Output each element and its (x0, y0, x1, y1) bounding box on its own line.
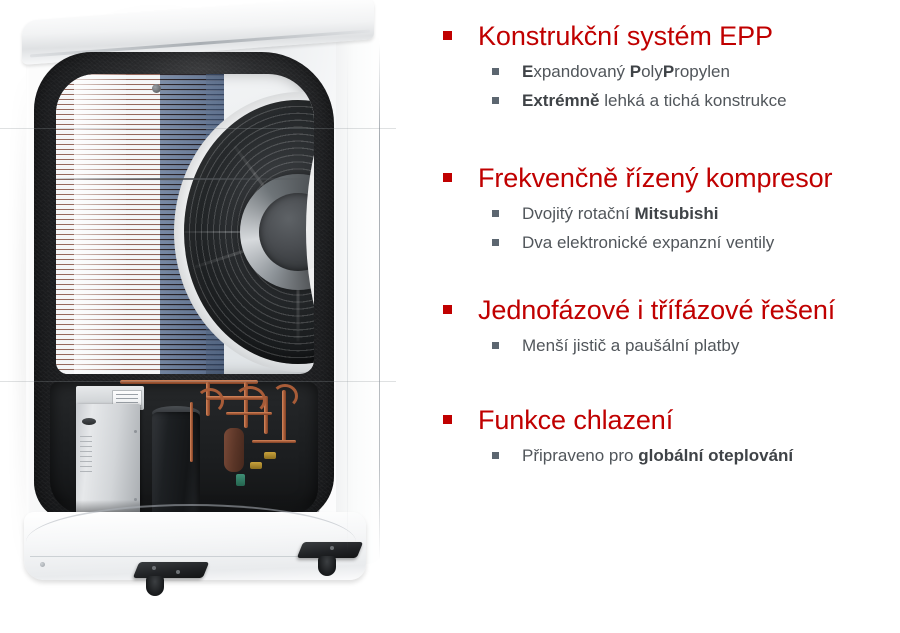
copper-pipe (252, 440, 296, 443)
bullet-group-2: Frekvenčně řízený kompresor Dvojitý rota… (430, 160, 900, 256)
small-square-bullet-icon (492, 452, 499, 459)
brass-fitting (250, 462, 262, 469)
brass-fitting (264, 452, 276, 459)
sub-bullet-3-1: Menší jistič a paušální platby (430, 332, 900, 359)
cabinet-inner-edge-line (347, 52, 348, 552)
small-square-bullet-icon (492, 68, 499, 75)
slide-guide-line (0, 381, 396, 382)
sub-bullet-text: Dvojitý rotační Mitsubishi (522, 204, 719, 223)
heat-pump-cutaway-illustration (0, 0, 420, 633)
small-square-bullet-icon (492, 239, 499, 246)
sub-bullet-text: Dva elektronické expanzní ventily (522, 233, 774, 252)
sub-bullet-1-2: Extrémně lehká a tichá konstrukce (430, 87, 900, 114)
square-bullet-icon (443, 305, 452, 314)
sub-bullet-2-2: Dva elektronické expanzní ventily (430, 229, 900, 256)
mounting-foot-bolt (152, 566, 156, 570)
slide-root: Konstrukční systém EPP Expandovaný PolyP… (0, 0, 900, 633)
small-square-bullet-icon (492, 342, 499, 349)
square-bullet-icon (443, 31, 452, 40)
small-square-bullet-icon (492, 210, 499, 217)
bullet-heading-2: Frekvenčně řízený kompresor (430, 160, 900, 198)
control-box-vents (80, 436, 92, 476)
fan-guard-knob (152, 84, 161, 93)
fan-and-coil-bay (56, 74, 314, 374)
mounting-foot (133, 562, 209, 578)
copper-pipe-bend (234, 386, 266, 414)
cabinet-right-panel (336, 36, 382, 564)
mounting-foot-pad (146, 576, 164, 596)
control-box-knob (82, 418, 96, 425)
bullet-group-4: Funkce chlazení Připraveno pro globální … (430, 402, 900, 469)
control-box-screw (134, 430, 137, 433)
heading-text: Konstrukční systém EPP (478, 21, 773, 51)
mounting-foot-pad (318, 556, 336, 576)
expansion-valve (236, 474, 245, 486)
cabinet-base-screw (40, 562, 45, 567)
square-bullet-icon (443, 415, 452, 424)
small-square-bullet-icon (492, 97, 499, 104)
square-bullet-icon (443, 173, 452, 182)
cabinet-right-edge-line (379, 44, 380, 560)
bullet-heading-3: Jednofázové i třífázové řešení (430, 292, 900, 330)
bullet-content: Konstrukční systém EPP Expandovaný PolyP… (430, 0, 900, 633)
sub-bullet-1-1: Expandovaný PolyPropylen (430, 58, 900, 85)
sub-bullet-2-1: Dvojitý rotační Mitsubishi (430, 200, 900, 227)
sub-bullet-text: Připraveno pro globální oteplování (522, 446, 793, 465)
copper-pipe-bend (272, 384, 298, 408)
sub-bullet-text: Expandovaný PolyPropylen (522, 62, 730, 81)
copper-pipe-bend (196, 388, 224, 414)
fan-guard-bar (56, 178, 314, 180)
mounting-foot-bolt (330, 546, 334, 550)
evaporator-highlight (74, 74, 126, 374)
bullet-group-1: Konstrukční systém EPP Expandovaný PolyP… (430, 18, 900, 114)
bullet-heading-1: Konstrukční systém EPP (430, 18, 900, 56)
refrigerant-accumulator (224, 428, 244, 472)
mounting-foot-bolt (176, 570, 180, 574)
copper-pipe (190, 402, 193, 462)
heading-text: Jednofázové i třífázové řešení (478, 295, 835, 325)
bullet-group-3: Jednofázové i třífázové řešení Menší jis… (430, 292, 900, 359)
sub-bullet-text: Extrémně lehká a tichá konstrukce (522, 91, 787, 110)
heading-text: Funkce chlazení (478, 405, 673, 435)
bullet-heading-4: Funkce chlazení (430, 402, 900, 440)
slide-guide-line (0, 128, 396, 129)
sub-bullet-text: Menší jistič a paušální platby (522, 336, 739, 355)
heading-text: Frekvenčně řízený kompresor (478, 163, 832, 193)
sub-bullet-4-1: Připraveno pro globální oteplování (430, 442, 900, 469)
